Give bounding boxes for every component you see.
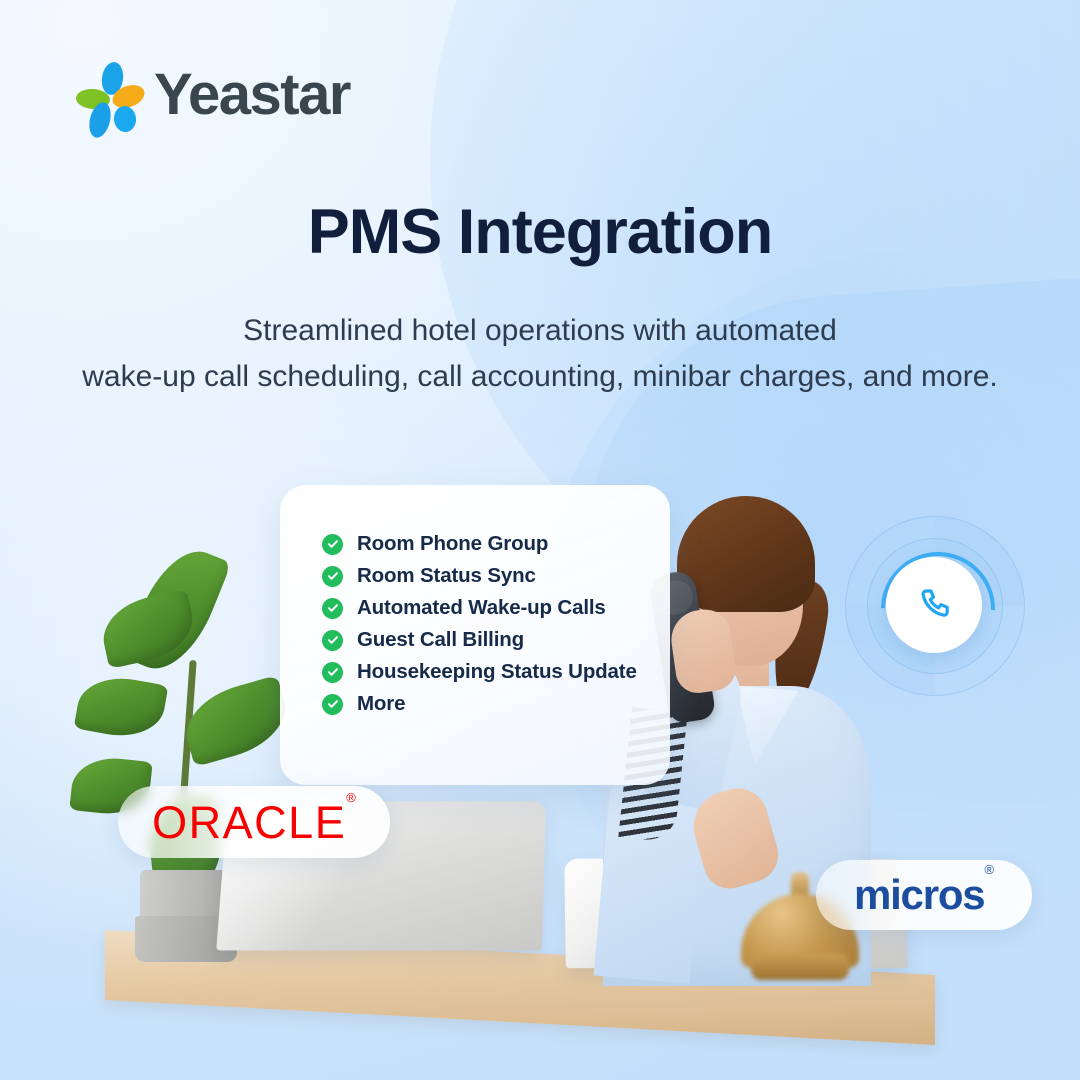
check-circle-icon: [322, 662, 343, 683]
phone-badge[interactable]: [845, 516, 1025, 696]
partner-badge-micros[interactable]: micros®: [816, 860, 1032, 930]
check-circle-icon: [322, 534, 343, 555]
poster-canvas: Yeastar PMS Integration Streamlined hote…: [0, 0, 1080, 1080]
oracle-trademark: ®: [346, 790, 356, 805]
bell-base: [751, 954, 849, 980]
brand-logo[interactable]: Yeastar: [78, 62, 350, 128]
micros-logo-text: micros®: [854, 874, 994, 916]
subtitle-line-2: wake-up call scheduling, call accounting…: [0, 354, 1080, 400]
micros-name: micros: [854, 871, 985, 918]
list-item[interactable]: Room Phone Group: [322, 533, 637, 555]
yeastar-flower-logo-icon: [78, 62, 140, 128]
list-item[interactable]: Room Status Sync: [322, 565, 637, 587]
brand-name: Yeastar: [154, 66, 350, 124]
list-item[interactable]: Automated Wake-up Calls: [322, 597, 637, 619]
page-title: PMS Integration: [0, 196, 1080, 268]
feature-label: More: [357, 692, 405, 716]
check-circle-icon: [322, 630, 343, 651]
oracle-logo-text: ORACLE®: [152, 800, 356, 845]
oracle-name: ORACLE: [152, 797, 346, 848]
subtitle-line-1: Streamlined hotel operations with automa…: [0, 308, 1080, 354]
phone-handset-icon: [914, 585, 954, 625]
check-circle-icon: [322, 566, 343, 587]
feature-label: Automated Wake-up Calls: [357, 596, 606, 620]
phone-icon-circle[interactable]: [886, 557, 982, 653]
check-circle-icon: [322, 598, 343, 619]
hero-scene: Room Phone Group Room Status Sync Automa…: [0, 430, 1080, 1080]
list-item[interactable]: Guest Call Billing: [322, 629, 637, 651]
plant-leaf: [97, 589, 200, 669]
feature-label: Guest Call Billing: [357, 628, 524, 652]
list-item[interactable]: More: [322, 693, 637, 715]
micros-trademark: ®: [984, 862, 994, 877]
feature-list: Room Phone Group Room Status Sync Automa…: [322, 533, 637, 715]
logo-petal-bottom-right: [113, 105, 138, 133]
page-subtitle: Streamlined hotel operations with automa…: [0, 308, 1080, 399]
feature-label: Room Phone Group: [357, 532, 548, 556]
list-item[interactable]: Housekeeping Status Update: [322, 661, 637, 683]
check-circle-icon: [322, 694, 343, 715]
feature-label: Room Status Sync: [357, 564, 536, 588]
plant-leaf: [74, 671, 169, 743]
feature-label: Housekeeping Status Update: [357, 660, 637, 684]
hair: [677, 496, 815, 612]
partner-badge-oracle[interactable]: ORACLE®: [118, 786, 390, 858]
